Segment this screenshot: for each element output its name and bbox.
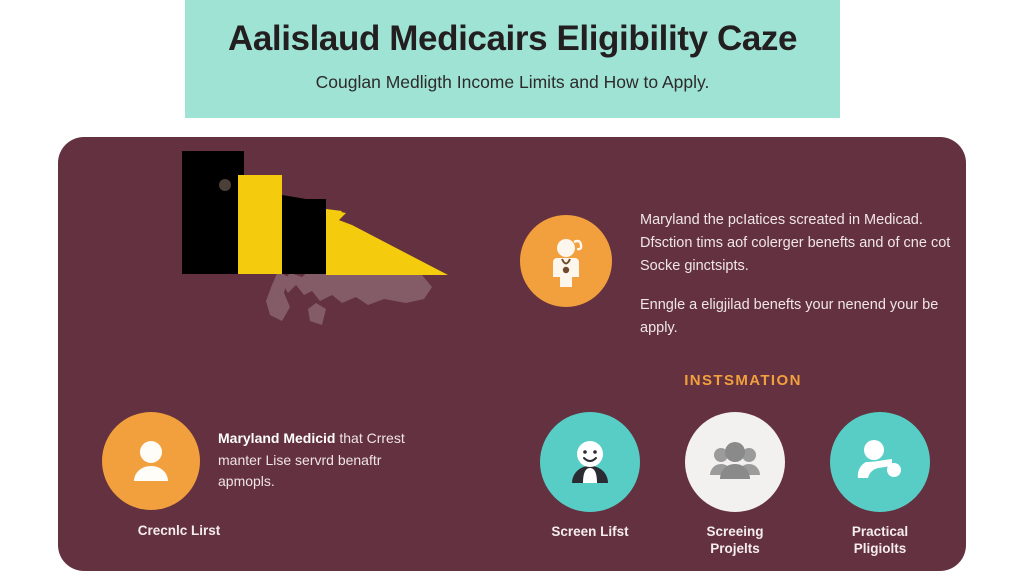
bottom-item-label: Screeing Projelts xyxy=(706,524,763,558)
bottom-item-label: Screen Lifst xyxy=(551,524,628,541)
info-paragraph-2: Enngle a eligjilad benefts your nenend y… xyxy=(640,294,966,340)
info-paragraph-1: Maryland the pcIatices screated in Medic… xyxy=(640,209,966,278)
feature-block: Maryland Medicid that Crrest manter Lise… xyxy=(102,412,432,510)
info-text-group: Maryland the pcIatices screated in Medic… xyxy=(616,207,966,340)
doctor-figure-icon xyxy=(520,215,612,307)
info-block: Maryland the pcIatices screated in Medic… xyxy=(520,207,966,340)
header-banner: Aalislaud Medicairs Eligibility Caze Cou… xyxy=(185,0,840,118)
parent-and-child-icon xyxy=(830,412,930,512)
smiling-person-icon xyxy=(540,412,640,512)
main-content-card: Maryland the pcIatices screated in Medic… xyxy=(58,137,966,571)
section-heading: INSTSMATION xyxy=(520,372,966,389)
feature-text-group: Maryland Medicid that Crrest manter Lise… xyxy=(200,412,432,493)
people-group-icon xyxy=(685,412,785,512)
bottom-item-label: Practical Pligiolts xyxy=(852,524,908,558)
page-subtitle: Couglan Medligth Income Limits and How t… xyxy=(316,72,710,93)
wedge-dot xyxy=(219,179,231,191)
user-avatar-icon xyxy=(102,412,200,510)
bottom-item-screen-lifst[interactable]: Screen Lifst xyxy=(513,412,667,541)
bottom-item-practical-pligiolts[interactable]: Practical Pligiolts xyxy=(803,412,957,558)
feature-lead: Maryland Medicid xyxy=(218,430,335,446)
feature-caption: Crecnlc Lirst xyxy=(102,523,256,538)
info-avatar-wrapper xyxy=(520,207,616,307)
feature-paragraph: Maryland Medicid that Crrest manter Lise… xyxy=(218,428,432,493)
bottom-item-screeing-projelts[interactable]: Screeing Projelts xyxy=(658,412,812,558)
page-title: Aalislaud Medicairs Eligibility Caze xyxy=(228,21,797,58)
abstract-map-wedge-graphic xyxy=(170,143,470,343)
